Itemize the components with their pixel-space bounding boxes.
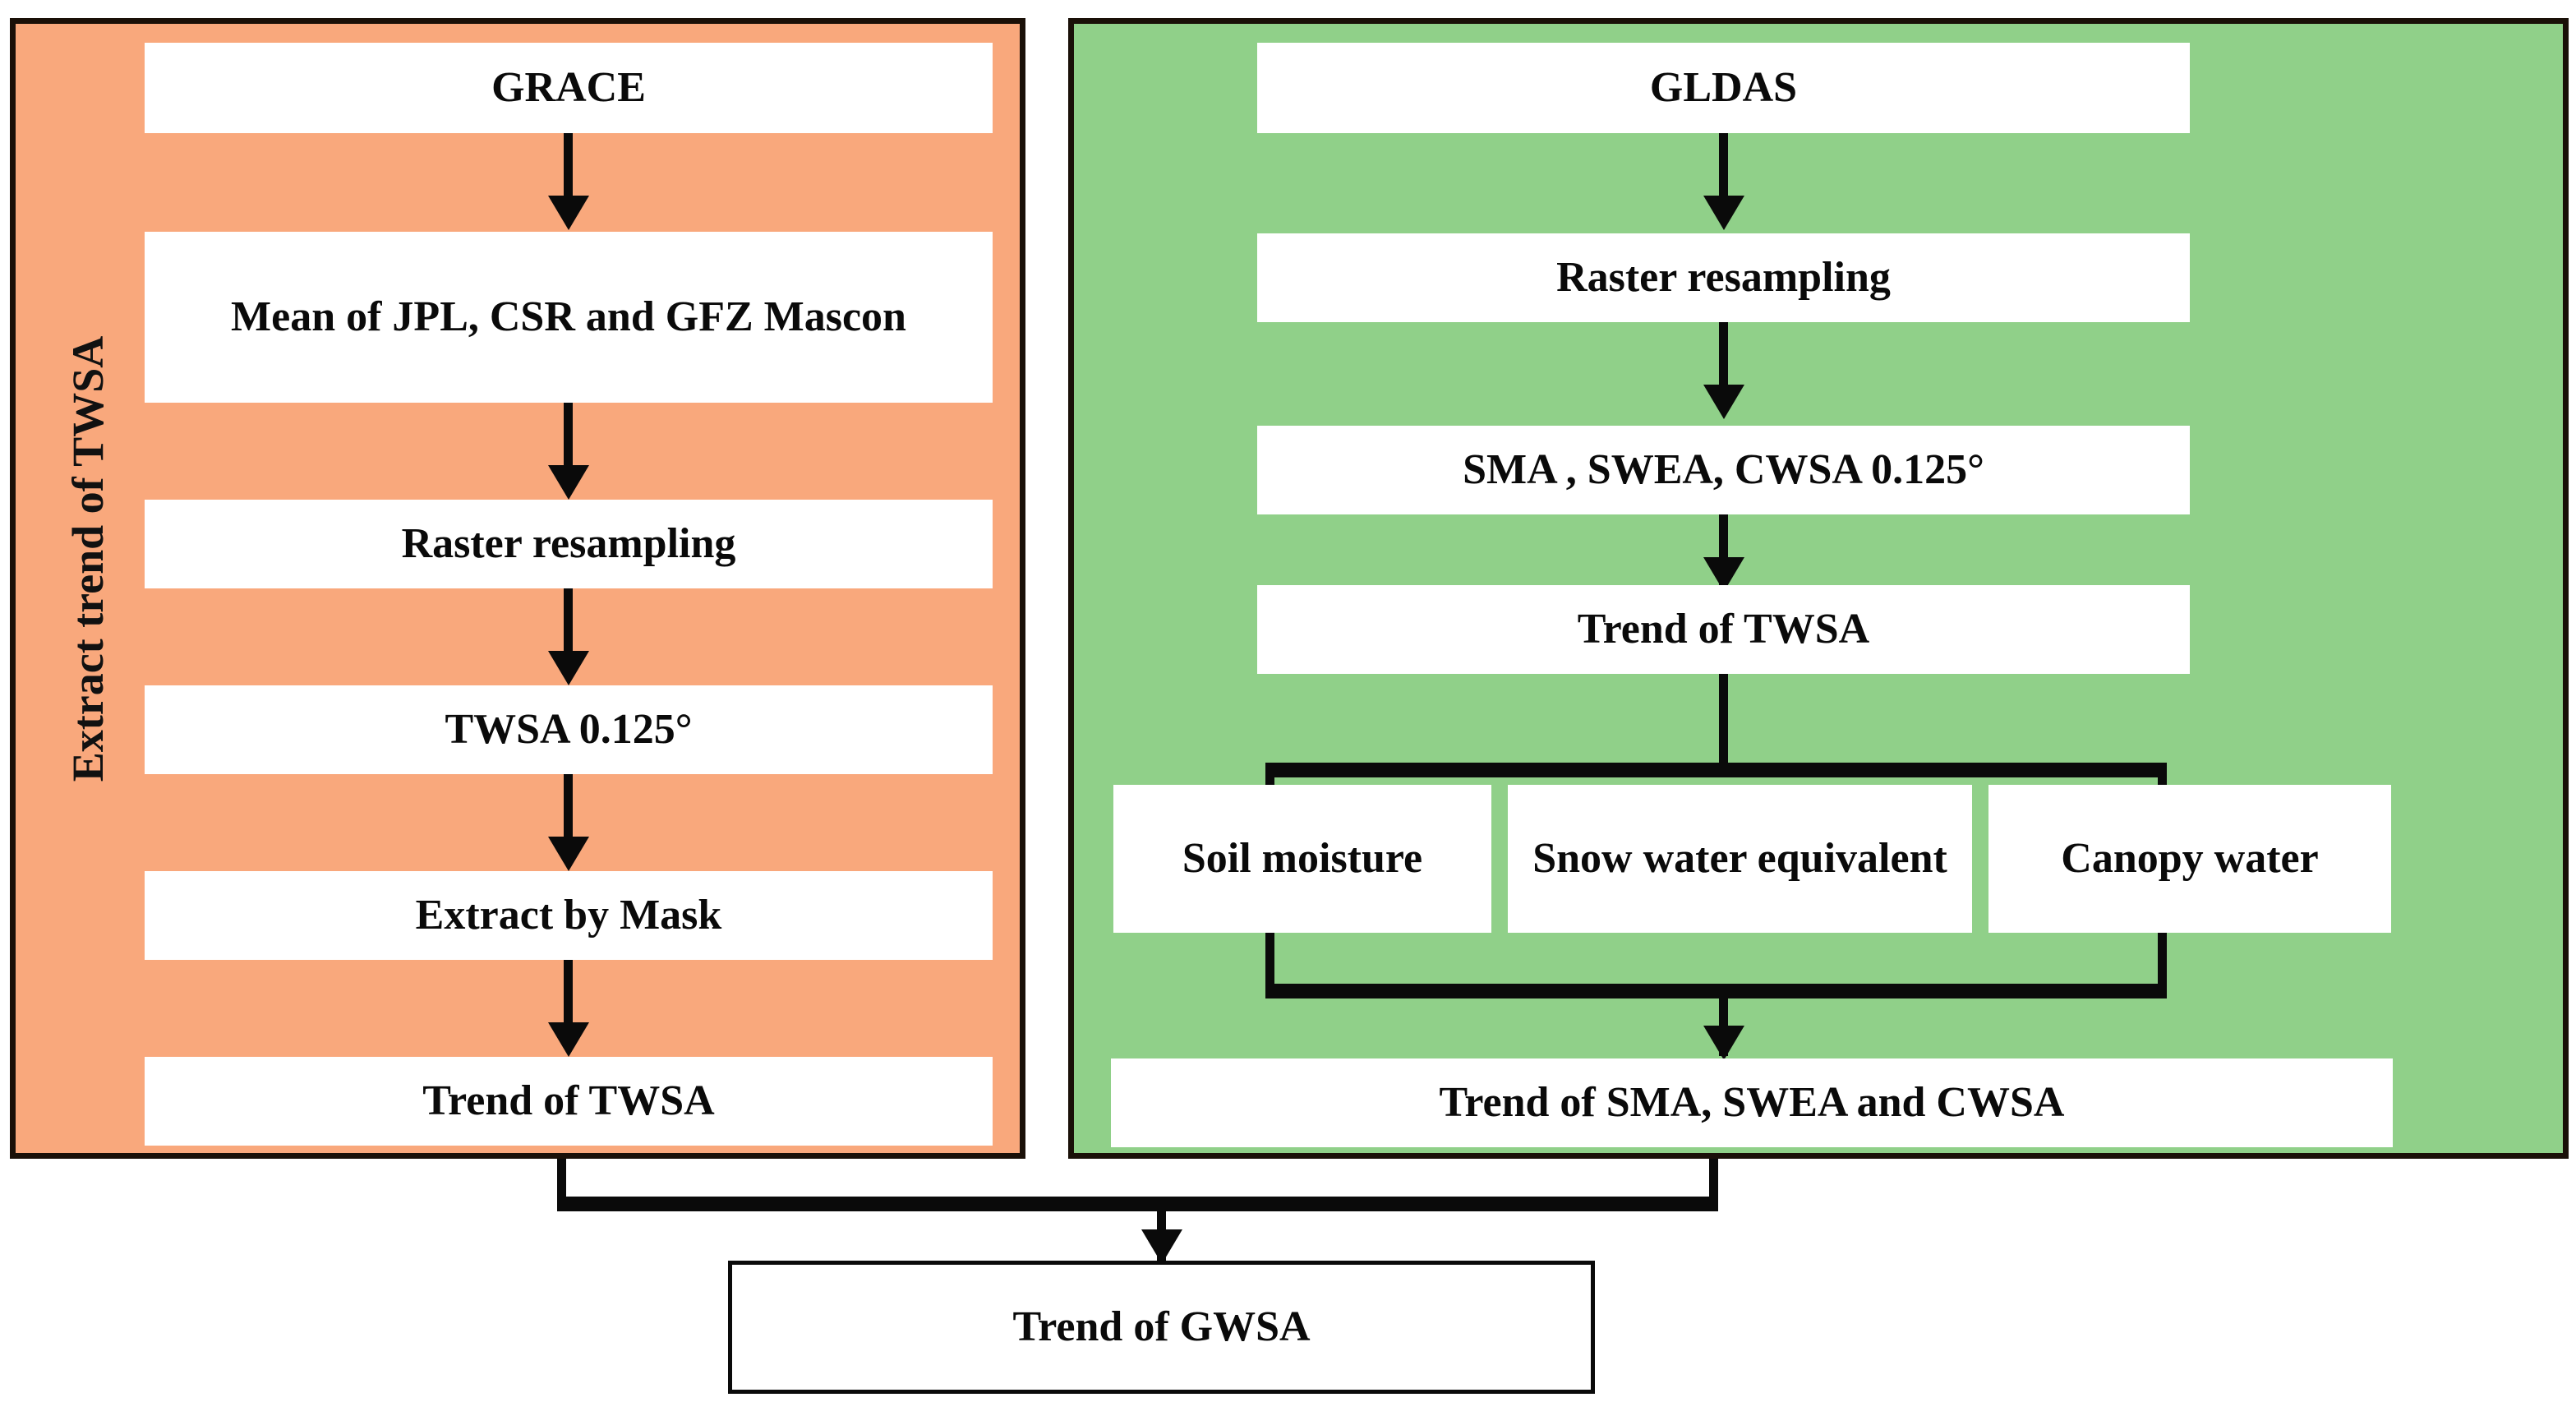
connector-trend-split-bar (1265, 763, 2167, 777)
flowchart-canvas: Extract trend of TWSA GRACE Mean of JPL,… (0, 0, 2576, 1402)
arrowhead-to-trend-sma-swea-cwsa (1703, 1026, 1744, 1060)
connector-final-merge-bar (557, 1197, 1718, 1211)
box-raster-resampling-left: Raster resampling (145, 500, 993, 588)
arrowhead-raster-to-twsa (548, 651, 589, 685)
connector-trend-split-stem (1719, 674, 1728, 769)
box-canopy-water: Canopy water (1988, 785, 2391, 933)
box-twsa-0125: TWSA 0.125° (145, 685, 993, 774)
box-grace: GRACE (145, 43, 993, 133)
box-trend-of-twsa-right: Trend of TWSA (1257, 585, 2190, 674)
box-snow-water-equivalent: Snow water equivalent (1508, 785, 1972, 933)
arrowhead-gldas-to-raster (1703, 196, 1744, 230)
box-sma-swea-cwsa-0125: SMA , SWEA, CWSA 0.125° (1257, 426, 2190, 514)
arrowhead-twsa-to-mask (548, 837, 589, 871)
arrowhead-raster-to-sma (1703, 385, 1744, 419)
arrowhead-mean-to-raster (548, 465, 589, 500)
connector-merge-bar (1265, 984, 2167, 998)
box-extract-by-mask: Extract by Mask (145, 871, 993, 960)
box-soil-moisture: Soil moisture (1113, 785, 1491, 933)
box-trend-of-twsa-left: Trend of TWSA (145, 1057, 993, 1146)
panel-extract-trend-twsa: Extract trend of TWSA (10, 18, 1025, 1159)
box-trend-of-sma-swea-cwsa: Trend of SMA, SWEA and CWSA (1111, 1058, 2393, 1147)
panel-left-vertical-label: Extract trend of TWSA (62, 66, 113, 1052)
box-mean-of-jpl-csr-gfz-mascon: Mean of JPL, CSR and GFZ Mascon (145, 232, 993, 403)
box-raster-resampling-right: Raster resampling (1257, 233, 2190, 322)
box-trend-of-gwsa: Trend of GWSA (728, 1261, 1595, 1394)
arrowhead-to-trend-of-gwsa (1141, 1229, 1182, 1264)
arrowhead-grace-to-mean (548, 196, 589, 230)
box-gldas: GLDAS (1257, 43, 2190, 133)
arrowhead-mask-to-trend (548, 1022, 589, 1057)
